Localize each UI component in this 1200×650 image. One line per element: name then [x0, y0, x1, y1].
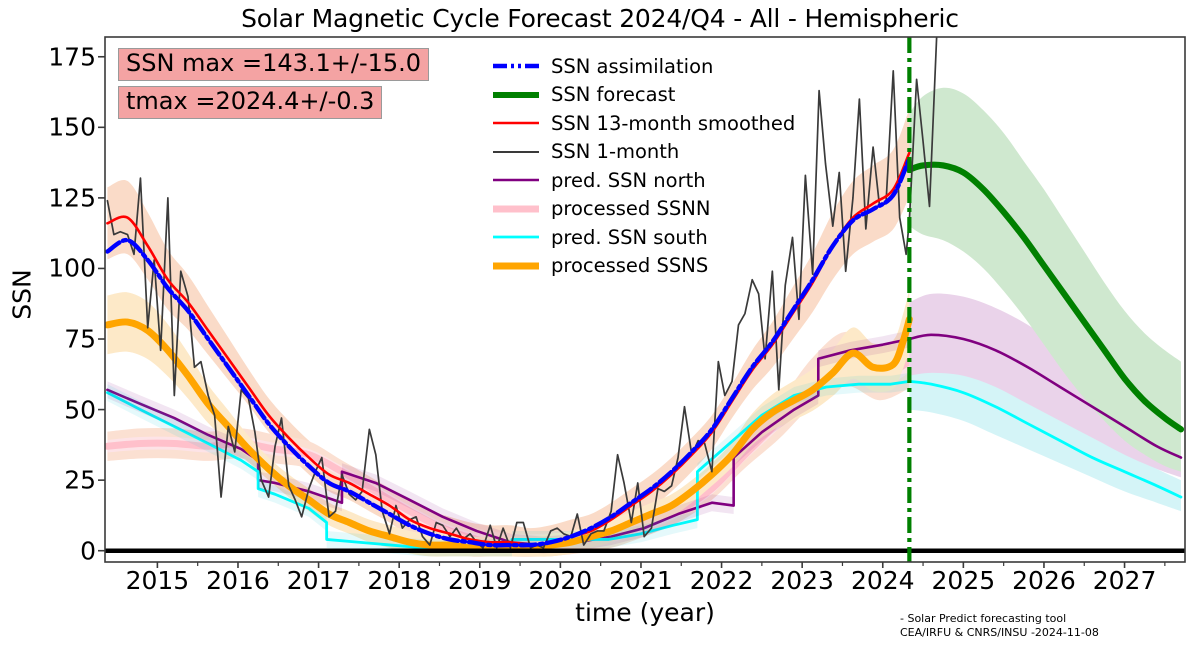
- legend-item-0[interactable]: SSN assimilation: [492, 52, 842, 81]
- legend-label-1: SSN forecast: [551, 83, 675, 106]
- legend-label-7: processed SSNS: [551, 254, 708, 277]
- legend-item-4[interactable]: pred. SSN north: [492, 166, 842, 195]
- legend-swatch-2: [492, 112, 540, 134]
- legend-label-5: processed SSNN: [551, 197, 710, 220]
- ssn-max-annotation: SSN max =143.1+/-15.0: [118, 48, 429, 81]
- legend-swatch-6: [492, 226, 540, 248]
- legend-item-5[interactable]: processed SSNN: [492, 195, 842, 224]
- tmax-annotation: tmax =2024.4+/-0.3: [118, 86, 382, 119]
- legend-label-6: pred. SSN south: [551, 226, 708, 249]
- legend-label-3: SSN 1-month: [551, 140, 679, 163]
- legend-label-0: SSN assimilation: [551, 55, 713, 78]
- legend-swatch-1: [492, 84, 540, 106]
- legend-swatch-7: [492, 255, 540, 277]
- legend-swatch-0: [492, 55, 540, 77]
- chart-legend: SSN assimilationSSN forecastSSN 13-month…: [492, 52, 842, 280]
- credit-line-1: - Solar Predict forecasting tool: [900, 612, 1066, 625]
- legend-label-4: pred. SSN north: [551, 169, 706, 192]
- legend-swatch-3: [492, 141, 540, 163]
- legend-item-1[interactable]: SSN forecast: [492, 81, 842, 110]
- legend-item-6[interactable]: pred. SSN south: [492, 223, 842, 252]
- legend-swatch-4: [492, 169, 540, 191]
- legend-item-3[interactable]: SSN 1-month: [492, 138, 842, 167]
- credit-line-2: CEA/IRFU & CNRS/INSU -2024-11-08: [900, 626, 1099, 639]
- legend-swatch-5: [492, 198, 540, 220]
- legend-item-2[interactable]: SSN 13-month smoothed: [492, 109, 842, 138]
- legend-item-7[interactable]: processed SSNS: [492, 252, 842, 281]
- credit-text: - Solar Predict forecasting tool CEA/IRF…: [900, 612, 1099, 641]
- legend-label-2: SSN 13-month smoothed: [551, 112, 795, 135]
